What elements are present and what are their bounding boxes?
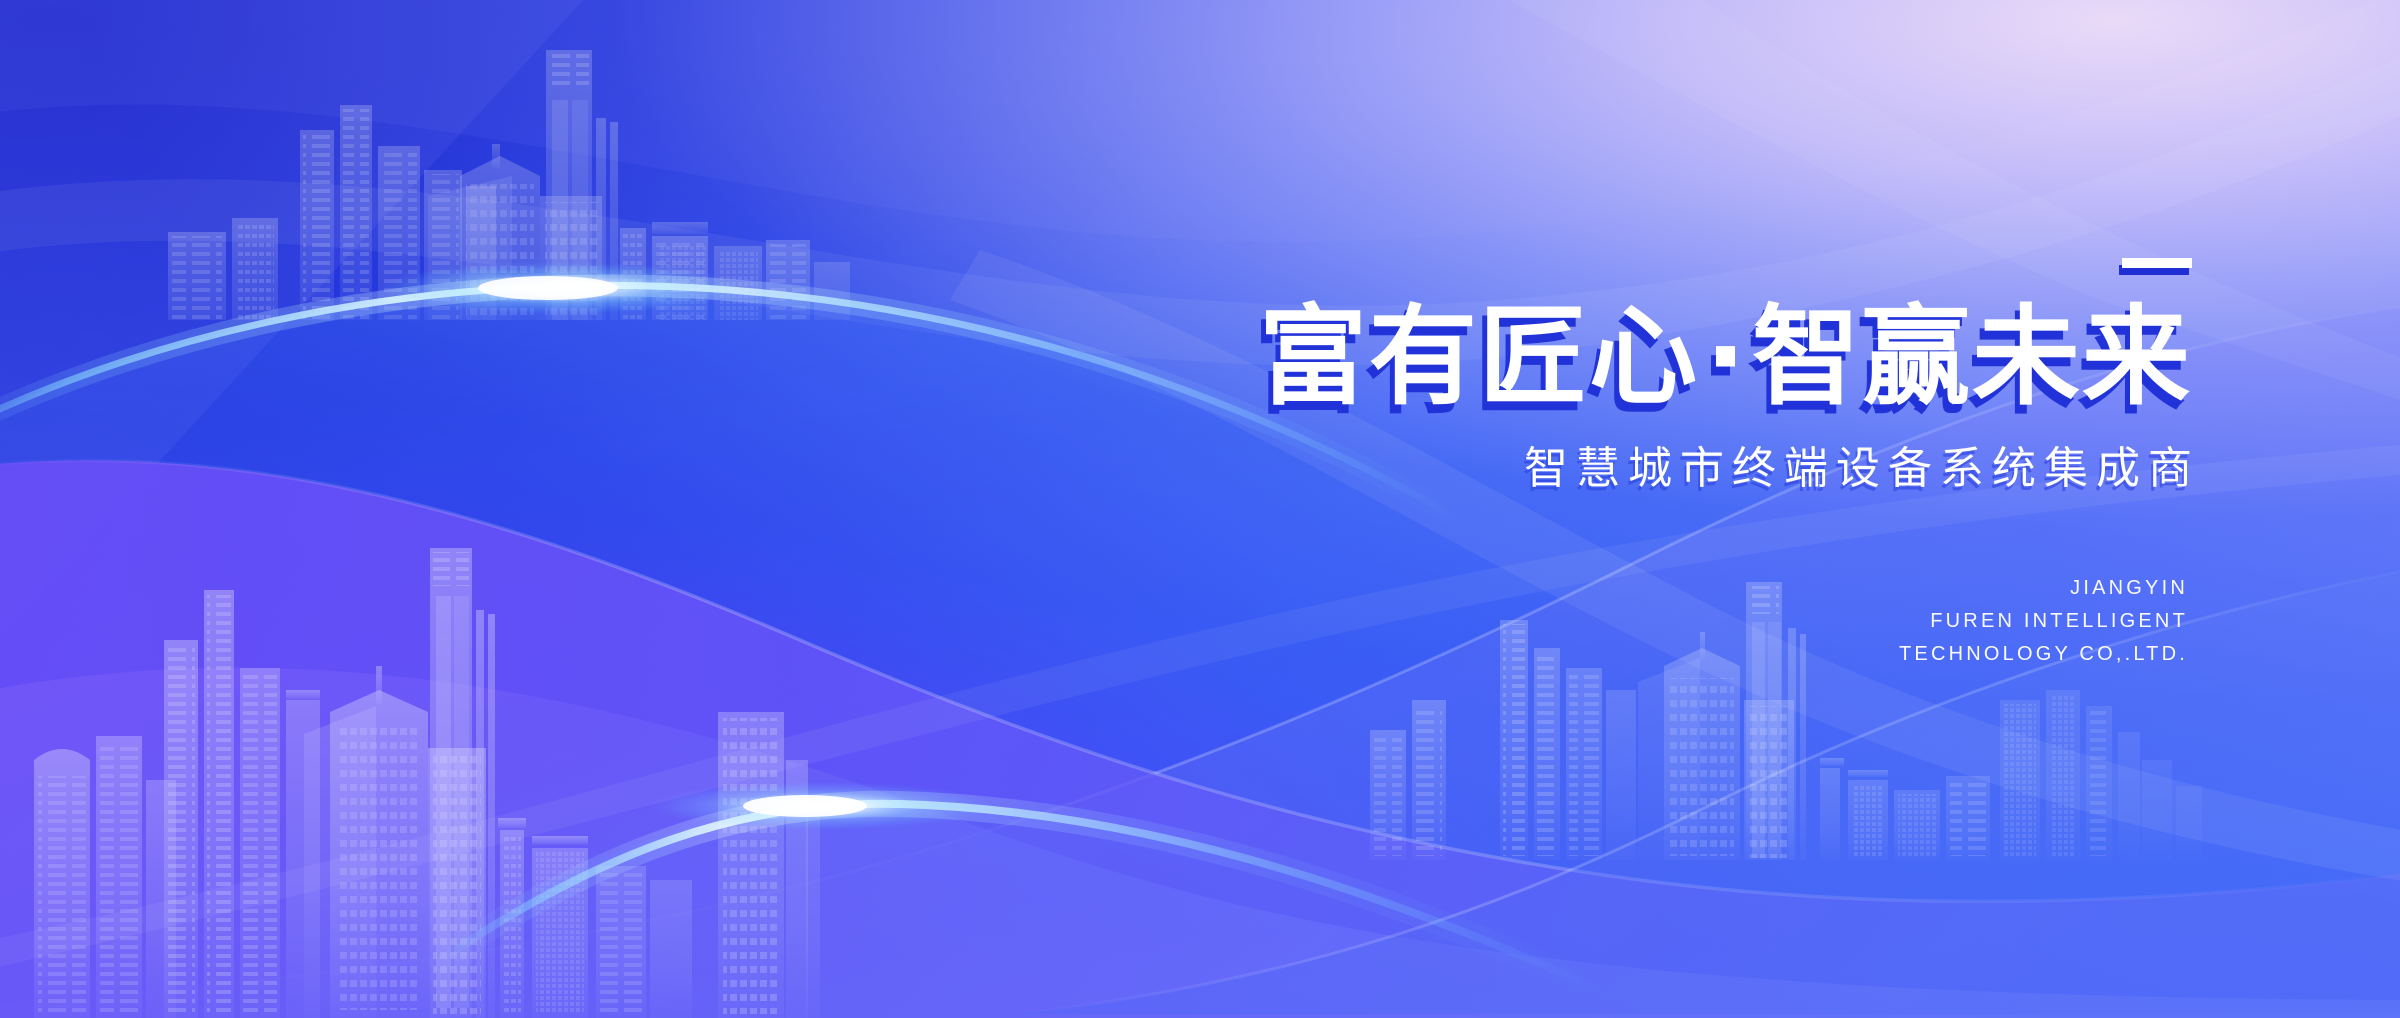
foreground-sheen bbox=[0, 0, 2400, 1018]
banner-canvas: 富有匠心·智赢未来 智慧城市终端设备系统集成商 JIANGYIN FUREN I… bbox=[0, 0, 2400, 1018]
